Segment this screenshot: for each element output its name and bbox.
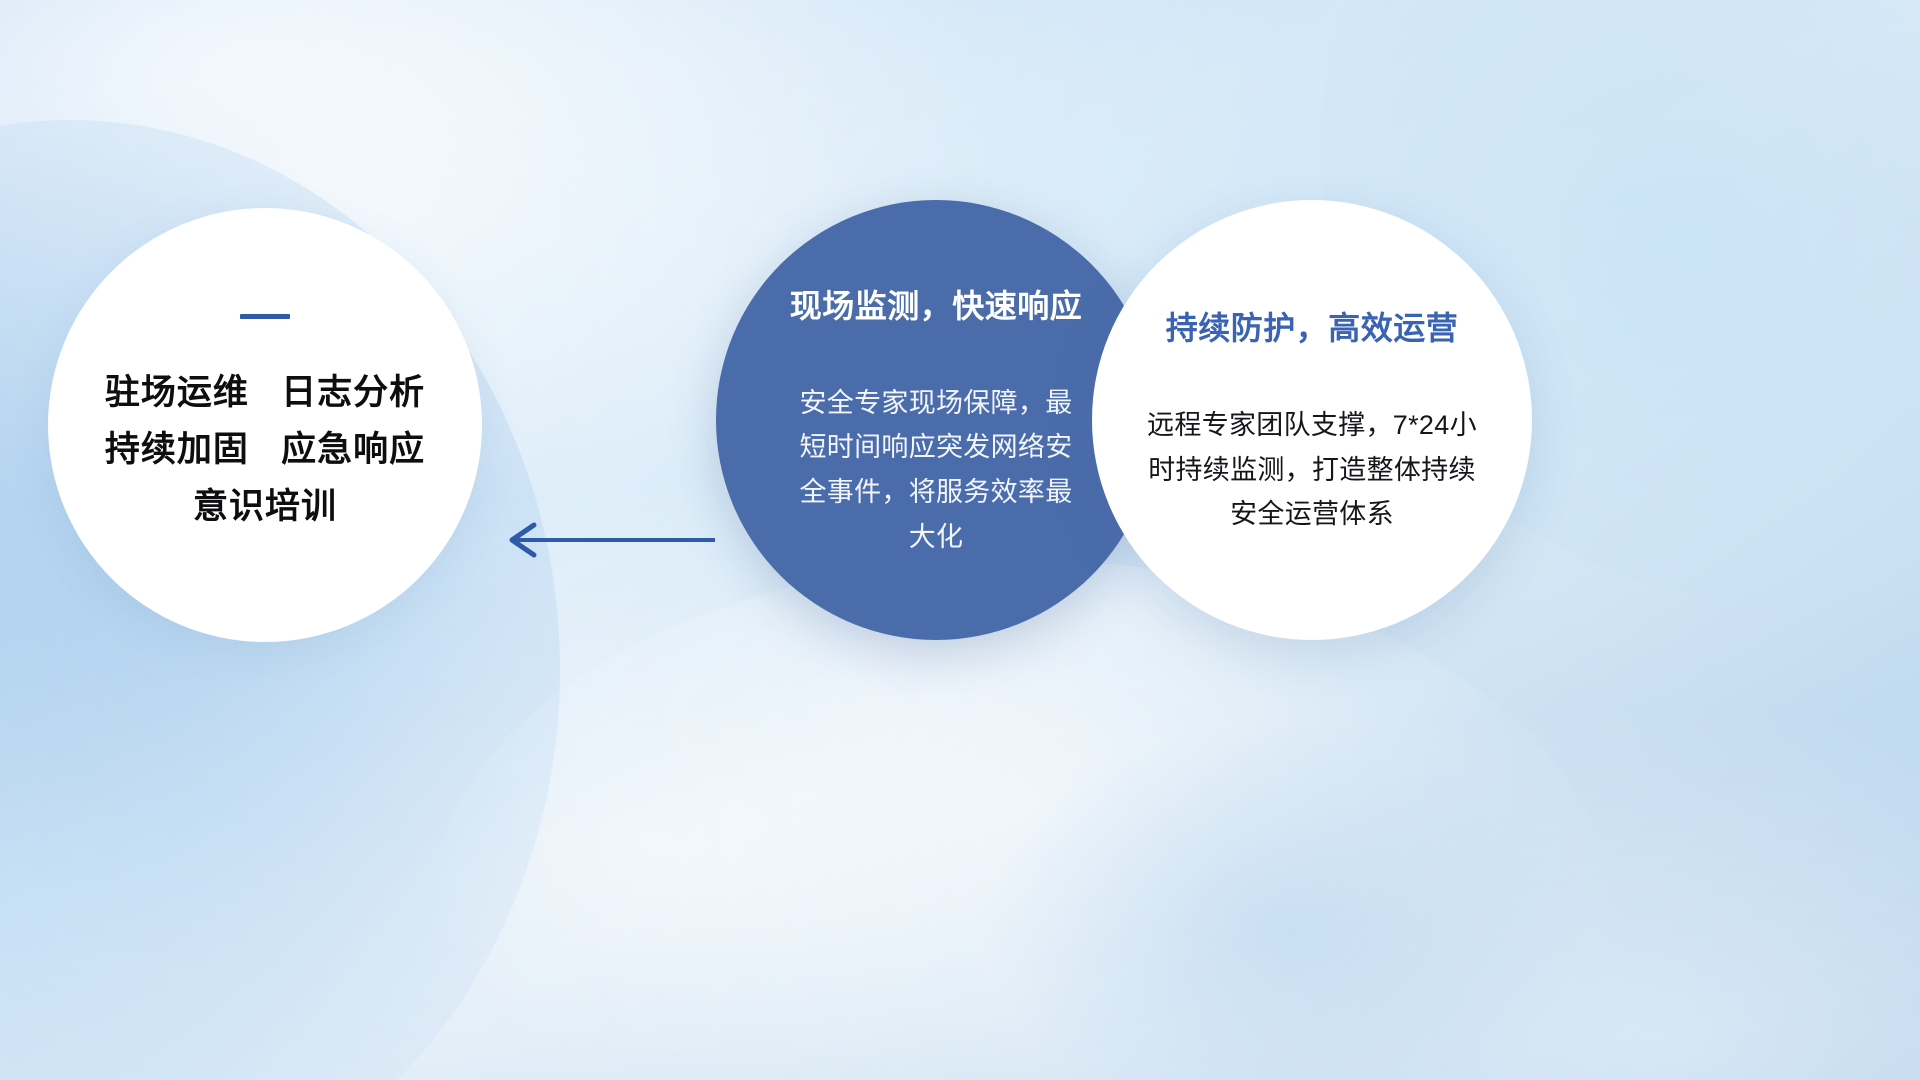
capability-list: 驻场运维 日志分析 持续加固 应急响应 意识培训 [105,365,425,535]
capability-line-1: 驻场运维 日志分析 [105,365,425,422]
background-glow-bottom-center [430,560,1610,1080]
circle-node-capabilities[interactable]: 驻场运维 日志分析 持续加固 应急响应 意识培训 [48,208,482,642]
capability-line-3: 意识培训 [105,479,425,536]
diagram-canvas: 驻场运维 日志分析 持续加固 应急响应 意识培训 现场监测，快速响应 安全专家现… [0,0,1920,1080]
circle-right-body: 远程专家团队支撑，7*24小时持续监测，打造整体持续安全运营体系 [1137,403,1487,537]
left-pointing-arrow-icon [490,515,715,565]
circle-node-continuous-protection[interactable]: 持续防护，高效运营 远程专家团队支撑，7*24小时持续监测，打造整体持续安全运营… [1092,200,1532,640]
capability-line-2: 持续加固 应急响应 [105,422,425,479]
accent-dash-divider [240,314,290,319]
background-glow-bottom-right [980,720,1600,1080]
circle-middle-title: 现场监测，快速响应 [790,281,1083,327]
circle-middle-body: 安全专家现场保障，最短时间响应突发网络安全事件，将服务效率最大化 [786,381,1086,559]
circle-node-onsite-monitoring[interactable]: 现场监测，快速响应 安全专家现场保障，最短时间响应突发网络安全事件，将服务效率最… [716,200,1156,640]
circle-right-title: 持续防护，高效运营 [1166,303,1459,349]
